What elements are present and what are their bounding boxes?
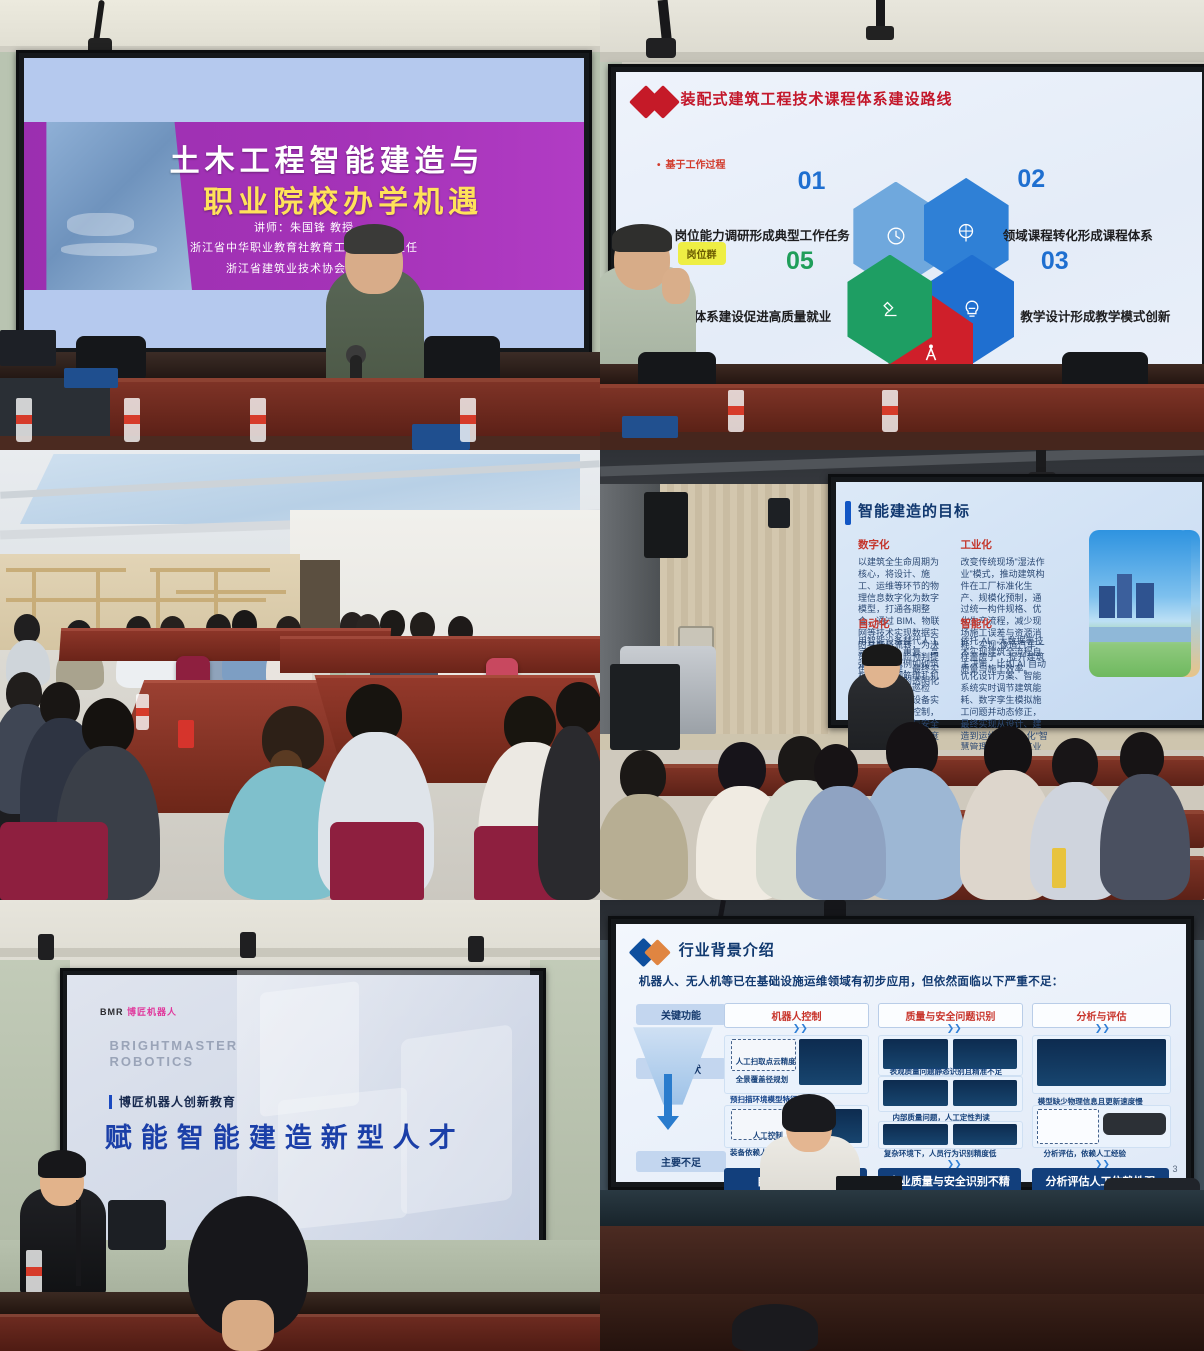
brand-english: BRIGHTMASTER ROBOTICS (109, 1038, 238, 1071)
desk-edge (0, 436, 600, 450)
presenter-hair (862, 644, 902, 666)
chevron-down-icon: ❯❯ (1095, 1023, 1110, 1034)
water-bottle (124, 398, 140, 442)
brand-logo: BMR 博匠机器人 (100, 1005, 177, 1018)
slide-lead-text: 机器人、无人机等已在基础设施运维领域有初步应用，但依然面临以下严重不足： (639, 973, 1064, 989)
slide-page-number: 3 (1172, 1164, 1177, 1174)
cell-analysis-1 (1032, 1035, 1171, 1094)
chair (0, 822, 108, 900)
caption-analysis-2: 分析评估，依赖人工经验 (1044, 1148, 1127, 1159)
brand-logo-cn: 博匠机器人 (127, 1007, 177, 1017)
step-label-03: 教学设计形成教学模式创新 (1020, 306, 1170, 325)
panel-roundtable-discussion (0, 450, 600, 900)
projection-screen: 土木工程智能建造与 职业院校办学机遇 讲师：朱国锋 教授 浙江省中华职业教育社教… (16, 50, 592, 356)
loudspeaker (644, 492, 688, 558)
speaker-hair (344, 224, 404, 254)
brand-subtitle: 博匠机器人创新教育 (119, 1093, 236, 1110)
slide-subtitle-2: 浙江省中华职业教育社教育工作委员副主任 (24, 239, 584, 255)
brand-english-line1: BRIGHTMASTER (109, 1038, 238, 1054)
step-number-03: 03 (1041, 247, 1069, 276)
presenter-hair (782, 1094, 836, 1132)
name-plate (64, 368, 118, 388)
cell-quality-2 (878, 1076, 1023, 1112)
caption-robot-control-1: 人工扫取点云精度 (736, 1056, 796, 1067)
panel-industry-background-slide: 行业背景介绍 机器人、无人机等已在基础设施运维领域有初步应用，但依然面临以下严重… (600, 900, 1204, 1351)
ceiling-camera-icon (866, 26, 894, 40)
ceiling (0, 900, 600, 976)
desk-front (110, 378, 600, 440)
panel-keynote-opening-slide: 土木工程智能建造与 职业院校办学机遇 讲师：朱国锋 教授 浙江省中华职业教育社教… (0, 0, 600, 450)
drink-carton (1052, 848, 1066, 888)
compass-icon (918, 340, 944, 366)
slide-image-city (1089, 530, 1191, 678)
section-heading-digital: 数字化 (858, 539, 946, 553)
panel-lecture-hall-goals-slide: 智能建造的目标 数字化 以建筑全生命周期为核心，将设计、施工、运维等环节的物理信… (600, 450, 1204, 900)
water-bottle (136, 694, 149, 730)
slide-subtitle-3: 浙江省建筑业技术协会秘书长 (24, 260, 584, 276)
name-plate (622, 416, 678, 438)
laptop (0, 330, 56, 366)
step-number-02: 02 (1017, 165, 1045, 194)
foreground-attendee-head (732, 1304, 818, 1351)
section-heading-automation: 自动化 (858, 618, 946, 632)
water-bottle (26, 1250, 42, 1294)
water-bottle (460, 398, 476, 442)
desk-base (600, 1294, 1204, 1351)
cell-analysis-2 (1032, 1105, 1171, 1148)
shelf (6, 568, 126, 572)
section-heading-intelligent: 智能化 (960, 618, 1048, 632)
slide-title: 装配式建筑工程技术课程体系建设路线 (680, 88, 952, 109)
caption-quality-3: 复杂环境下，人员行为识别精度低 (884, 1148, 997, 1159)
clock-icon (883, 223, 909, 249)
foreground-attendee-neck (222, 1300, 274, 1351)
attendee-body (796, 786, 886, 900)
brand-english-line2: ROBOTICS (109, 1054, 238, 1070)
water-bottle (728, 390, 744, 432)
spotlight-icon (240, 932, 256, 958)
chair (330, 822, 424, 900)
title-accent-bar (845, 501, 851, 525)
shelf-divider (96, 568, 100, 628)
host-hair (38, 1150, 86, 1178)
step-number-05: 05 (786, 247, 814, 276)
speaker-hair (612, 224, 672, 252)
cell-quality-3 (878, 1121, 1023, 1149)
ceiling-beam (600, 52, 1204, 62)
brand-logo-mark: BMR (100, 1007, 124, 1017)
caption-robot-control-2: 全景覆盖径规划 (736, 1074, 789, 1085)
projector-icon (646, 38, 676, 58)
slide-headline: 赋能智能建造新型人才 (105, 1116, 465, 1155)
desk-front (0, 1314, 600, 1351)
step-label-02: 领域课程转化形成课程体系 (1003, 225, 1153, 244)
attendee-body (1100, 774, 1190, 900)
water-bottle (882, 390, 898, 432)
slide-bullet: 基于工作过程 (657, 156, 726, 171)
microscope-icon (877, 296, 903, 322)
down-arrow-icon (664, 1074, 672, 1116)
slide-title: 行业背景介绍 (679, 939, 775, 960)
photo-collage: 土木工程智能建造与 职业院校办学机遇 讲师：朱国锋 教授 浙江省中华职业教育社教… (0, 0, 1204, 1351)
slide-title: 智能建造的目标 (858, 500, 970, 521)
equipment-rack (610, 664, 680, 750)
slide-logo-icon (633, 942, 673, 964)
desk-front (600, 384, 1204, 436)
globe-icon (953, 220, 979, 246)
conference-table (280, 636, 600, 673)
wall-camera-icon (768, 498, 790, 528)
shelf-divider (156, 568, 160, 628)
water-bottle (16, 398, 32, 442)
spotlight-icon (38, 934, 54, 960)
chevron-down-icon: ❯❯ (947, 1023, 962, 1034)
desk-front (600, 1226, 1204, 1296)
section-heading-industrial: 工业化 (960, 539, 1048, 553)
slide-tag-position-group: 岗位群 (678, 242, 726, 265)
slide-title-line1: 土木工程智能建造与 (170, 136, 573, 180)
row-label-main-gaps: 主要不足 (636, 1151, 726, 1172)
desk-edge (600, 432, 1204, 450)
slide-title-line2: 职业院校办学机遇 (203, 177, 573, 221)
shelf (150, 568, 270, 572)
tissue-box (178, 720, 194, 748)
speaker-hand (662, 268, 690, 304)
microphone-stand (76, 1200, 81, 1286)
panel-robotics-education-slide: BMR 博匠机器人 BRIGHTMASTER ROBOTICS 博匠机器人创新教… (0, 900, 600, 1351)
ceiling-track (0, 948, 600, 957)
projection-screen: 行业背景介绍 机器人、无人机等已在基础设施运维领域有初步应用，但依然面临以下严重… (608, 916, 1194, 1190)
accent-bar (109, 1095, 112, 1109)
water-bottle (250, 398, 266, 442)
row-label-key-functions: 关键功能 (636, 1004, 726, 1025)
chair (108, 1200, 166, 1250)
panel-curriculum-roadmap-slide: 装配式建筑工程技术课程体系建设路线 基于工作过程 (600, 0, 1204, 450)
slide-subtitle-1: 讲师：朱国锋 教授 (24, 219, 584, 235)
shelf (176, 590, 286, 594)
spotlight-icon (468, 936, 484, 962)
step-number-01: 01 (798, 167, 826, 196)
desk-top (600, 1190, 1204, 1226)
shelf (6, 598, 266, 602)
diamond-bullet-icon (634, 90, 678, 112)
chevron-down-icon: ❯❯ (793, 1023, 808, 1034)
